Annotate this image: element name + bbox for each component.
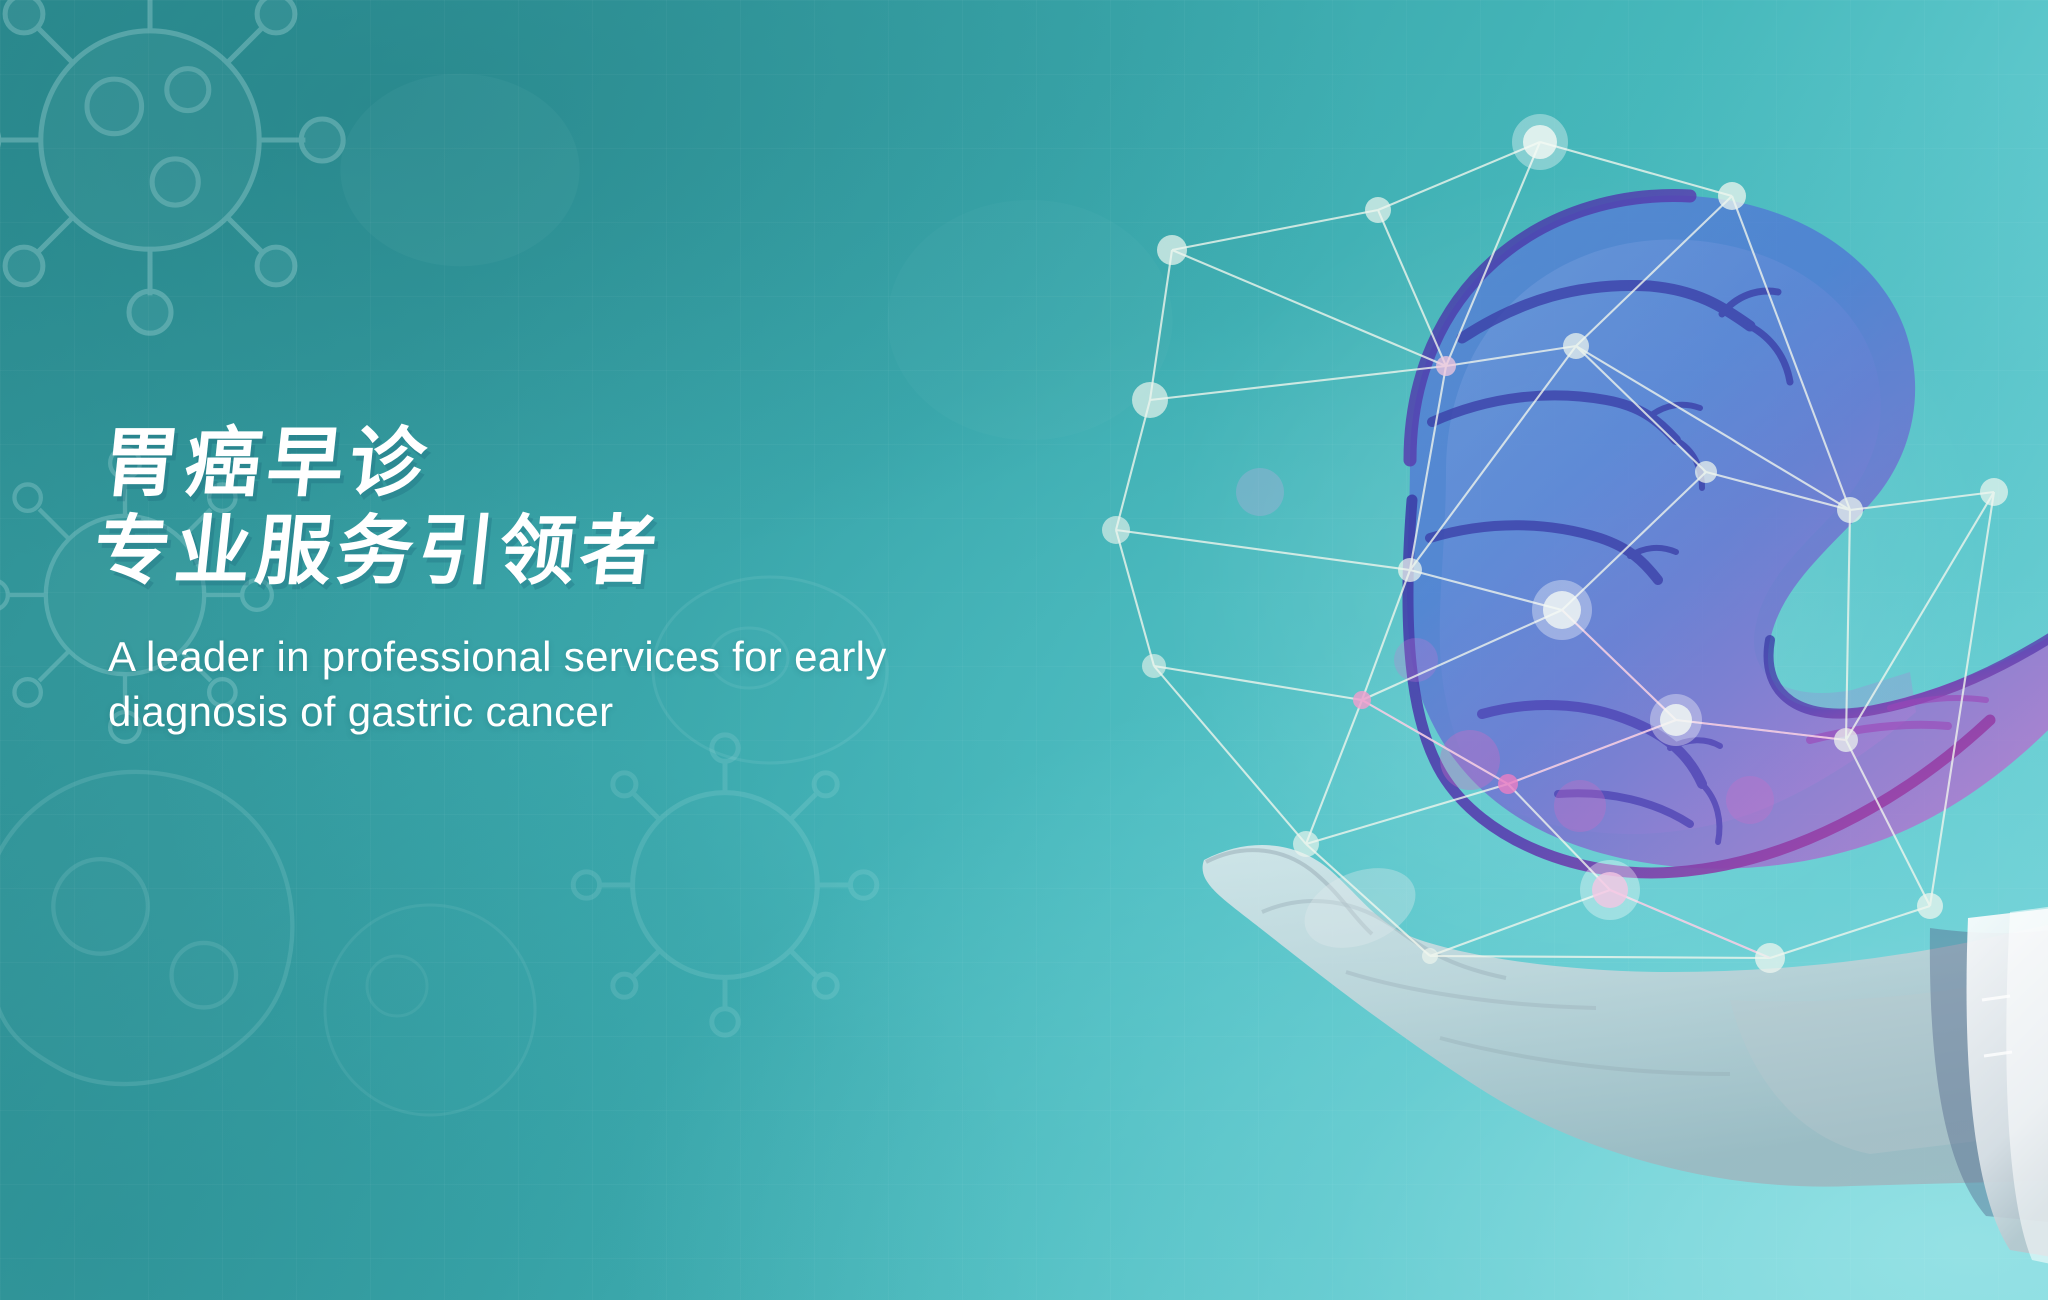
- cell-blob-icon: [280, 860, 580, 1160]
- subtitle-line-2: diagnosis of gastric cancer: [108, 685, 1118, 740]
- page-subtitle: A leader in professional services for ea…: [108, 630, 1118, 739]
- hero-banner: 胃癌早诊 专业服务引领者 A leader in professional se…: [0, 0, 2048, 1300]
- subtitle-line-1: A leader in professional services for ea…: [108, 630, 1118, 685]
- cell-blob-icon: [330, 40, 590, 300]
- copy-block: 胃癌早诊 专业服务引领者 A leader in professional se…: [108, 420, 1128, 740]
- headline-line-1: 胃癌早诊: [99, 420, 1128, 508]
- headline-line-2: 专业服务引领者: [89, 508, 1118, 596]
- page-title: 胃癌早诊 专业服务引领者: [89, 420, 1128, 596]
- virus-particle-icon: [0, 0, 360, 350]
